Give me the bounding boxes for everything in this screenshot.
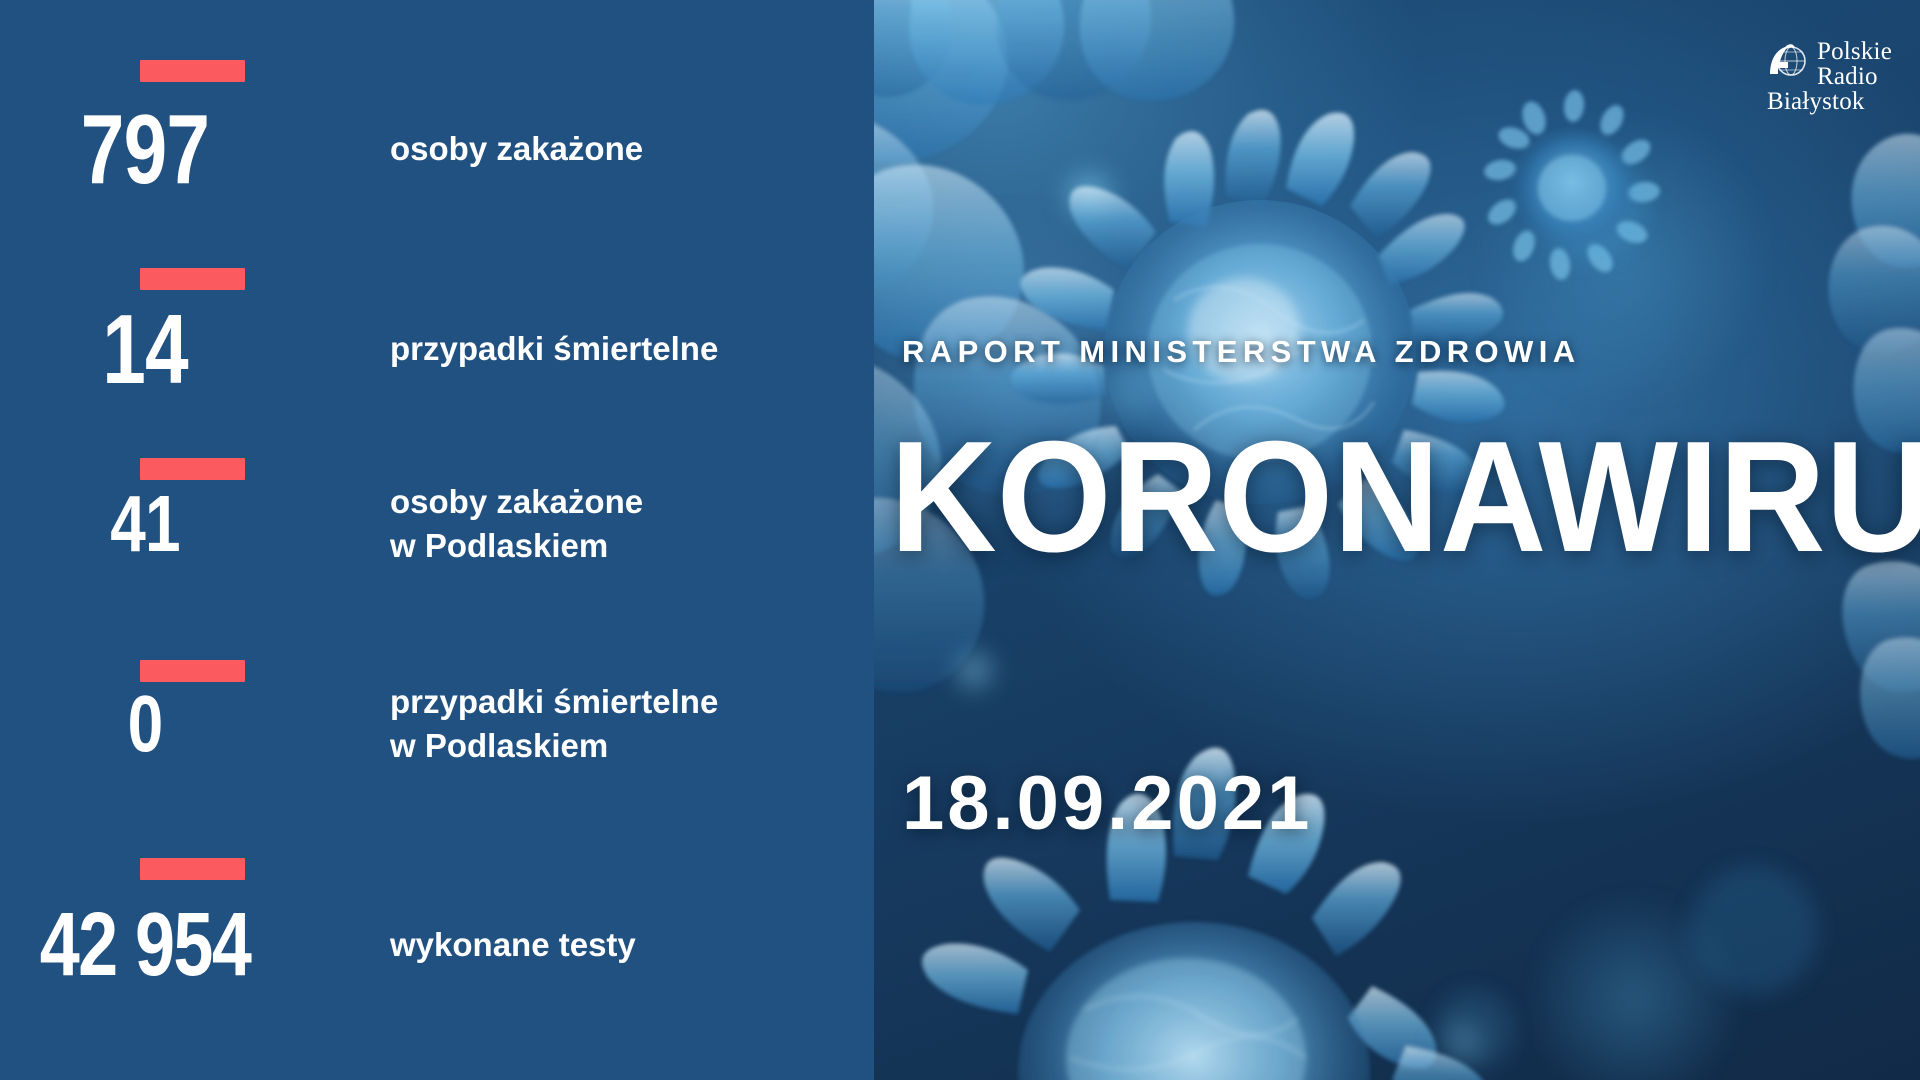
bokeh-glow: [1534, 880, 1734, 1080]
logo-line-polskie: Polskie: [1817, 40, 1892, 65]
red-divider-bar: [140, 858, 245, 880]
stat-label-infected: osoby zakażone: [390, 127, 643, 171]
stat-label-deaths-podlaskie: przypadki śmiertelne w Podlaskiem: [390, 680, 718, 767]
stat-row: 0 przypadki śmiertelne w Podlaskiem: [0, 680, 874, 767]
stat-value-infected-podlaskie: 41: [29, 484, 261, 564]
red-divider-bar: [140, 458, 245, 480]
stat-row: 41 osoby zakażone w Podlaskiem: [0, 480, 874, 567]
statistics-panel: 797 osoby zakażone 14 przypadki śmiertel…: [0, 0, 874, 1080]
hero-date: 18.09.2021: [902, 760, 1312, 847]
bokeh-glow: [944, 640, 1004, 700]
stat-label-infected-podlaskie: osoby zakażone w Podlaskiem: [390, 480, 643, 567]
stat-label-tests: wykonane testy: [390, 923, 636, 967]
stat-row: 14 przypadki śmiertelne: [0, 300, 874, 398]
virus-background-blur: [1106, 148, 1818, 1070]
polskie-radio-eagle-icon: [1766, 40, 1808, 88]
stat-value-infected: 797: [29, 100, 261, 198]
station-logo: Polskie Radio Białystok: [1766, 40, 1892, 114]
stat-row: 42 954 wykonane testy: [0, 900, 874, 990]
stat-row: 797 osoby zakażone: [0, 100, 874, 198]
hero-title: KORONAWIRUS: [890, 418, 1920, 576]
stat-label-deaths: przypadki śmiertelne: [390, 327, 718, 371]
stat-value-deaths-podlaskie: 0: [29, 684, 261, 764]
logo-line-bialystok: Białystok: [1767, 90, 1892, 115]
red-divider-bar: [140, 268, 245, 290]
hero-panel: RAPORT MINISTERSTWA ZDROWIA KORONAWIRUS …: [874, 0, 1920, 1080]
virus-top-left: [874, 0, 1234, 778]
red-divider-bar: [140, 60, 245, 82]
virus-small-right: [1483, 89, 1661, 281]
station-logo-text: Polskie Radio Białystok: [1817, 40, 1892, 114]
hero-kicker: RAPORT MINISTERSTWA ZDROWIA: [902, 334, 1581, 370]
bokeh-glow: [1054, 160, 1124, 230]
stat-value-tests: 42 954: [29, 900, 261, 990]
statistics-list: 797 osoby zakażone 14 przypadki śmiertel…: [0, 0, 874, 1080]
coronavirus-report-poster: 797 osoby zakażone 14 przypadki śmiertel…: [0, 0, 1920, 1080]
stat-value-deaths: 14: [29, 300, 261, 398]
bokeh-glow: [1434, 1010, 1494, 1070]
logo-line-radio: Radio: [1817, 65, 1892, 90]
